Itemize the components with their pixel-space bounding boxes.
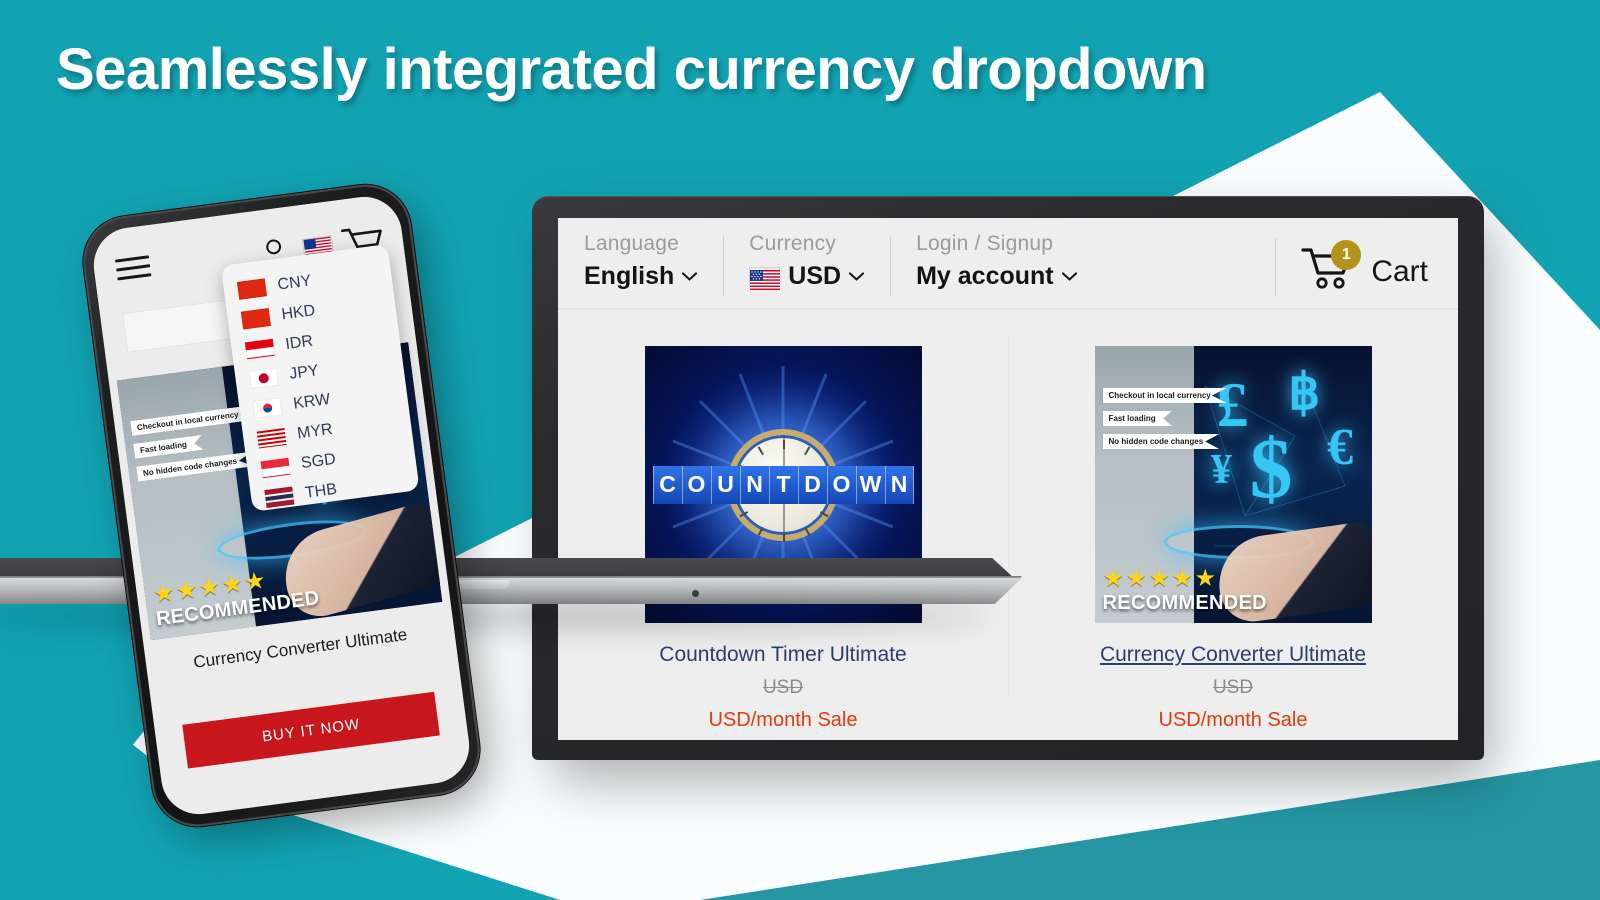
- star-icon: ★: [1195, 569, 1217, 591]
- phone-currency-dropdown[interactable]: CNY HKD IDR JPY: [221, 244, 420, 512]
- chevron-down-icon: [1062, 272, 1077, 281]
- star-icon: ★: [1149, 569, 1171, 591]
- chevron-down-icon: [849, 272, 864, 281]
- product-title[interactable]: Currency Converter Ultimate: [1100, 643, 1366, 667]
- product-card[interactable]: £ ฿ € ¥ $ Checkout in local currency Fas…: [1008, 346, 1458, 740]
- star-icon: ★: [152, 583, 177, 608]
- currency-value-row[interactable]: USD: [749, 262, 864, 291]
- star-icon: ★: [175, 580, 200, 605]
- product-card[interactable]: COUNTDOWN Countdown Timer Ultimate USD U…: [558, 346, 1008, 740]
- product-sale-price: USD/month Sale: [1159, 709, 1308, 732]
- feature-badge: Checkout in local currency: [1103, 388, 1227, 403]
- recommended-label: RECOMMENDED: [1103, 592, 1267, 615]
- currency-background: £ ฿ € ¥ $ Checkout in local currency Fas…: [1095, 346, 1372, 623]
- cart-label: Cart: [1371, 255, 1428, 289]
- hk-flag-icon: [241, 308, 271, 330]
- currency-code: IDR: [284, 333, 314, 354]
- currency-label: Currency: [749, 232, 864, 256]
- us-flag-icon: [749, 267, 780, 287]
- language-value: English: [584, 262, 674, 291]
- hamburger-menu-icon[interactable]: [115, 255, 152, 286]
- site-header: Language English Currency: [558, 218, 1458, 310]
- th-flag-icon: [264, 487, 294, 509]
- id-flag-icon: [245, 338, 275, 360]
- star-icon: ★: [197, 577, 222, 602]
- star-icon: ★: [1103, 569, 1125, 591]
- currency-value: USD: [788, 262, 841, 291]
- language-label: Language: [584, 232, 697, 256]
- language-value-row[interactable]: English: [584, 262, 697, 291]
- account-label: Login / Signup: [916, 232, 1077, 256]
- laptop-mockup: Language English Currency: [532, 196, 1484, 776]
- account-value: My account: [916, 262, 1054, 291]
- chevron-down-icon: [682, 272, 697, 281]
- countdown-word: COUNTDOWN: [645, 466, 922, 504]
- star-icon: ★: [243, 571, 268, 596]
- currency-code: HKD: [281, 302, 317, 324]
- feature-badge: Fast loading: [1103, 411, 1172, 426]
- currency-selector[interactable]: Currency: [723, 232, 890, 291]
- star-icon: ★: [220, 574, 245, 599]
- page-title: Seamlessly integrated currency dropdown: [56, 36, 1207, 103]
- account-value-row[interactable]: My account: [916, 262, 1077, 291]
- currency-code: CNY: [277, 272, 313, 294]
- jp-flag-icon: [249, 368, 279, 390]
- laptop-base-foot: [692, 590, 699, 597]
- cart-button[interactable]: 1 Cart: [1275, 232, 1458, 294]
- currency-converter-artwork[interactable]: £ ฿ € ¥ $ Checkout in local currency Fas…: [1095, 346, 1372, 623]
- feature-badges: Checkout in local currency Fast loading …: [1103, 388, 1330, 457]
- euro-symbol: €: [1327, 418, 1353, 477]
- buy-it-now-button[interactable]: BUY IT NOW: [182, 692, 440, 769]
- currency-code: SGD: [300, 451, 337, 473]
- product-old-price: USD: [763, 677, 803, 699]
- star-icon: ★: [1172, 569, 1194, 591]
- kr-flag-icon: [253, 397, 283, 419]
- currency-code: JPY: [288, 362, 319, 384]
- shopping-cart-icon: 1: [1301, 246, 1357, 294]
- my-flag-icon: [257, 427, 287, 449]
- account-selector[interactable]: Login / Signup My account: [890, 232, 1103, 291]
- phone-screen: 1 CNY HKD IDR: [89, 192, 473, 818]
- cart-badge: 1: [1331, 240, 1361, 270]
- product-grid: COUNTDOWN Countdown Timer Ultimate USD U…: [558, 310, 1458, 740]
- laptop-screen: Language English Currency: [558, 218, 1458, 740]
- product-old-price: USD: [1213, 677, 1253, 699]
- star-rating: ★ ★ ★ ★ ★: [1103, 569, 1267, 591]
- feature-badge: No hidden code changes: [1103, 434, 1220, 449]
- recommended-badge: ★ ★ ★ ★ ★ RECOMMENDED: [1103, 569, 1267, 615]
- currency-code: THB: [304, 481, 338, 503]
- language-selector[interactable]: Language English: [558, 232, 723, 291]
- cn-flag-icon: [237, 278, 267, 300]
- currency-code: MYR: [296, 421, 334, 443]
- product-sale-price: USD/month Sale: [709, 709, 858, 732]
- currency-code: KRW: [292, 391, 331, 414]
- sg-flag-icon: [260, 457, 290, 479]
- feature-badge: Fast loading: [133, 435, 203, 459]
- star-icon: ★: [1126, 569, 1148, 591]
- product-title[interactable]: Countdown Timer Ultimate: [659, 643, 906, 667]
